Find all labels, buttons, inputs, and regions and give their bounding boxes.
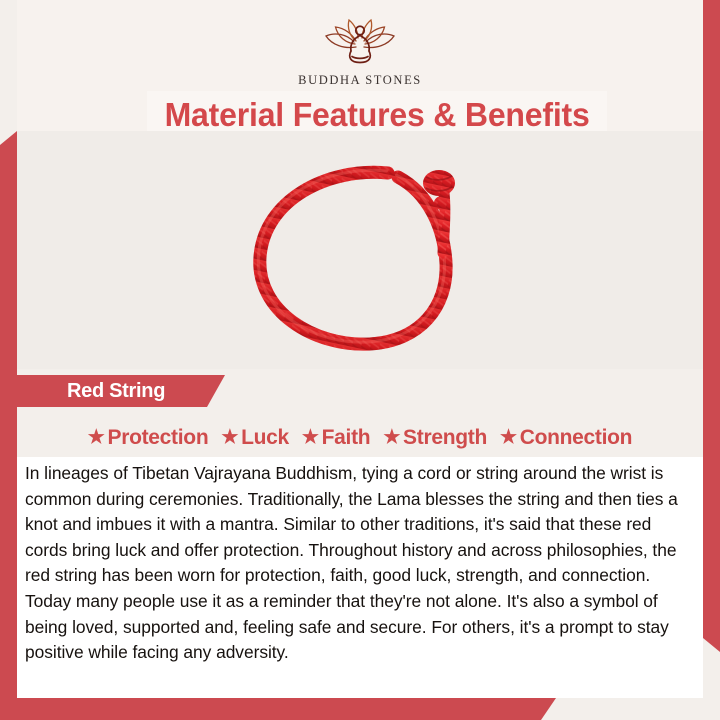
left-accent-band (0, 131, 17, 720)
product-name-label: Red String (67, 380, 165, 403)
brand-name: BUDDHA STONES (298, 73, 422, 88)
benefit-label: Protection (108, 426, 209, 450)
infographic-page: BUDDHA STONES Material Features & Benefi… (0, 0, 720, 720)
star-icon: ★ (88, 428, 105, 447)
star-icon: ★ (302, 428, 319, 447)
benefit-item-strength: ★ Strength (383, 426, 487, 450)
benefit-label: Connection (520, 426, 633, 450)
red-braided-cord-bracelet-image (230, 141, 490, 361)
benefit-label: Faith (322, 426, 371, 450)
description-paragraph: In lineages of Tibetan Vajrayana Buddhis… (25, 461, 689, 666)
bottom-accent-band (0, 698, 556, 720)
benefit-label: Strength (403, 426, 487, 450)
product-image-area (17, 131, 703, 369)
right-accent-band (703, 0, 720, 652)
page-title: Material Features & Benefits (164, 96, 589, 134)
star-icon: ★ (500, 428, 517, 447)
benefit-item-protection: ★ Protection (88, 426, 209, 450)
product-name-ribbon: Red String (17, 375, 225, 407)
lotus-meditation-icon (322, 14, 398, 70)
benefit-label: Luck (241, 426, 289, 450)
star-icon: ★ (221, 428, 238, 447)
brand-logo: BUDDHA STONES (17, 14, 703, 88)
benefits-row: ★ Protection ★ Luck ★ Faith ★ Strength ★… (17, 420, 703, 455)
header: BUDDHA STONES Material Features & Benefi… (17, 0, 703, 131)
benefit-item-luck: ★ Luck (221, 426, 289, 450)
star-icon: ★ (383, 428, 400, 447)
benefit-item-faith: ★ Faith (302, 426, 370, 450)
description-panel: In lineages of Tibetan Vajrayana Buddhis… (17, 457, 703, 698)
benefit-item-connection: ★ Connection (500, 426, 632, 450)
